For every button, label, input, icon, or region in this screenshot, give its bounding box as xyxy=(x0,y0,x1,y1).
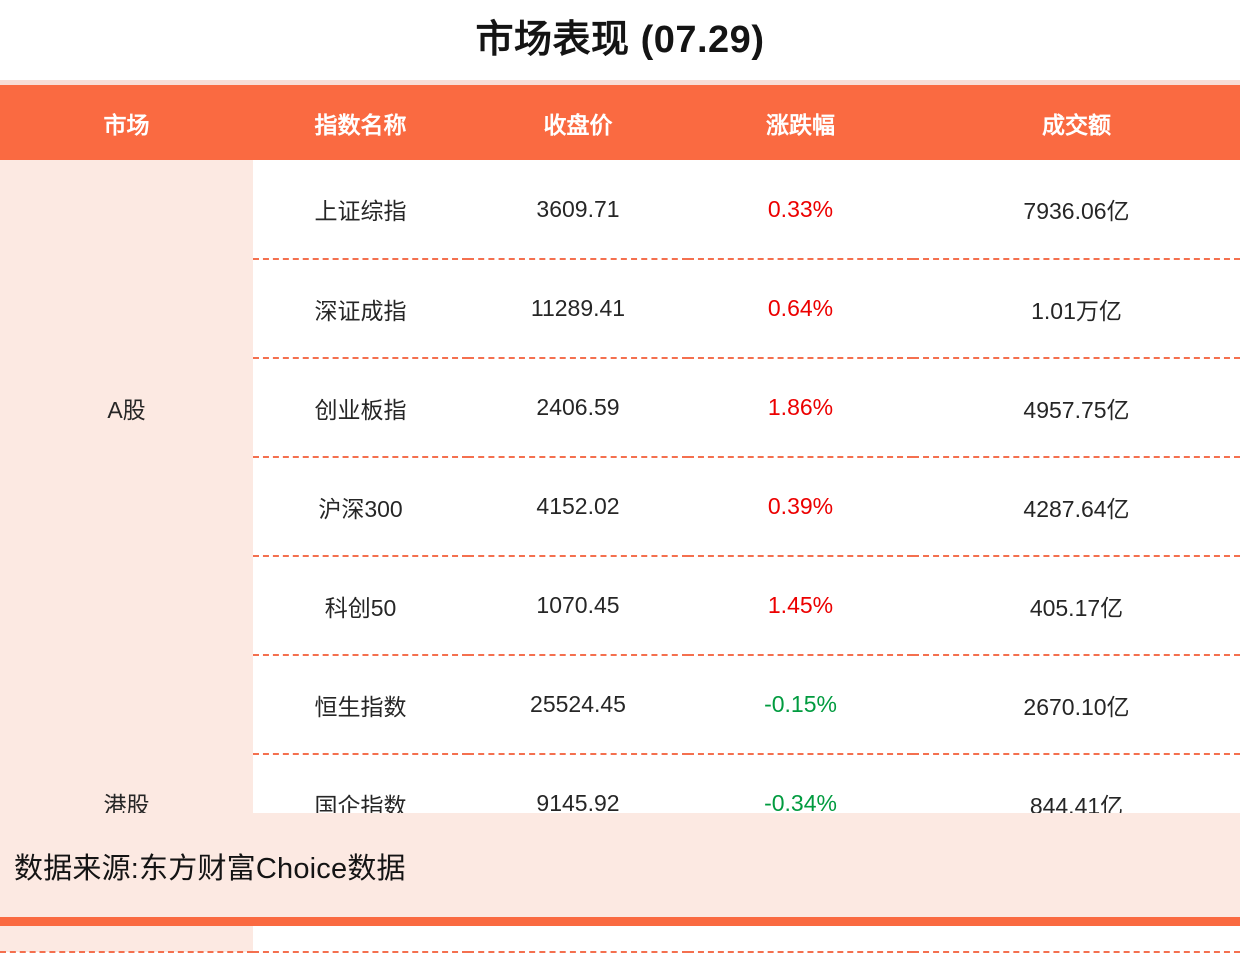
change-pct: 0.39% xyxy=(688,457,913,556)
change-pct: 1.86% xyxy=(688,358,913,457)
page-title: 市场表现 (07.29) xyxy=(476,21,765,59)
footer-bottom-rule xyxy=(0,917,1240,926)
footer-bar: 数据来源:东方财富Choice数据 xyxy=(0,813,1240,926)
table-header-row: 市场 指数名称 收盘价 涨跌幅 成交额 xyxy=(0,85,1240,160)
table-header: 市场 指数名称 收盘价 涨跌幅 成交额 xyxy=(0,85,1240,160)
column-header-market: 市场 xyxy=(0,85,253,160)
change-pct: 0.33% xyxy=(688,160,913,259)
close-price: 2406.59 xyxy=(468,358,688,457)
close-price: 25524.45 xyxy=(468,655,688,754)
column-header-index-name: 指数名称 xyxy=(253,85,468,160)
turnover: 7936.06亿 xyxy=(913,160,1240,259)
close-price: 1070.45 xyxy=(468,556,688,655)
turnover: 4957.75亿 xyxy=(913,358,1240,457)
market-performance-card: 市场表现 (07.29) 市场 指数名称 收盘价 涨跌幅 成交额 A股 上证综指 xyxy=(0,0,1240,926)
column-header-change-pct: 涨跌幅 xyxy=(688,85,913,160)
change-pct: 1.45% xyxy=(688,556,913,655)
index-name: 上证综指 xyxy=(253,160,468,259)
turnover: 405.17亿 xyxy=(913,556,1240,655)
turnover: 2670.10亿 xyxy=(913,655,1240,754)
index-name: 恒生指数 xyxy=(253,655,468,754)
page-title-bar: 市场表现 (07.29) xyxy=(0,0,1240,80)
data-source-label: 数据来源:东方财富Choice数据 xyxy=(14,845,406,887)
turnover: 4287.64亿 xyxy=(913,457,1240,556)
index-name: 沪深300 xyxy=(253,457,468,556)
change-pct: 0.64% xyxy=(688,259,913,358)
market-group-label-a: A股 xyxy=(0,160,253,655)
turnover: 1.01万亿 xyxy=(913,259,1240,358)
column-header-close-price: 收盘价 xyxy=(468,85,688,160)
table-row: 港股 恒生指数 25524.45 -0.15% 2670.10亿 xyxy=(0,655,1240,754)
table-row: A股 上证综指 3609.71 0.33% 7936.06亿 xyxy=(0,160,1240,259)
index-name: 科创50 xyxy=(253,556,468,655)
close-price: 4152.02 xyxy=(468,457,688,556)
column-header-turnover: 成交额 xyxy=(913,85,1240,160)
index-name: 深证成指 xyxy=(253,259,468,358)
close-price: 3609.71 xyxy=(468,160,688,259)
close-price: 11289.41 xyxy=(468,259,688,358)
index-name: 创业板指 xyxy=(253,358,468,457)
change-pct: -0.15% xyxy=(688,655,913,754)
